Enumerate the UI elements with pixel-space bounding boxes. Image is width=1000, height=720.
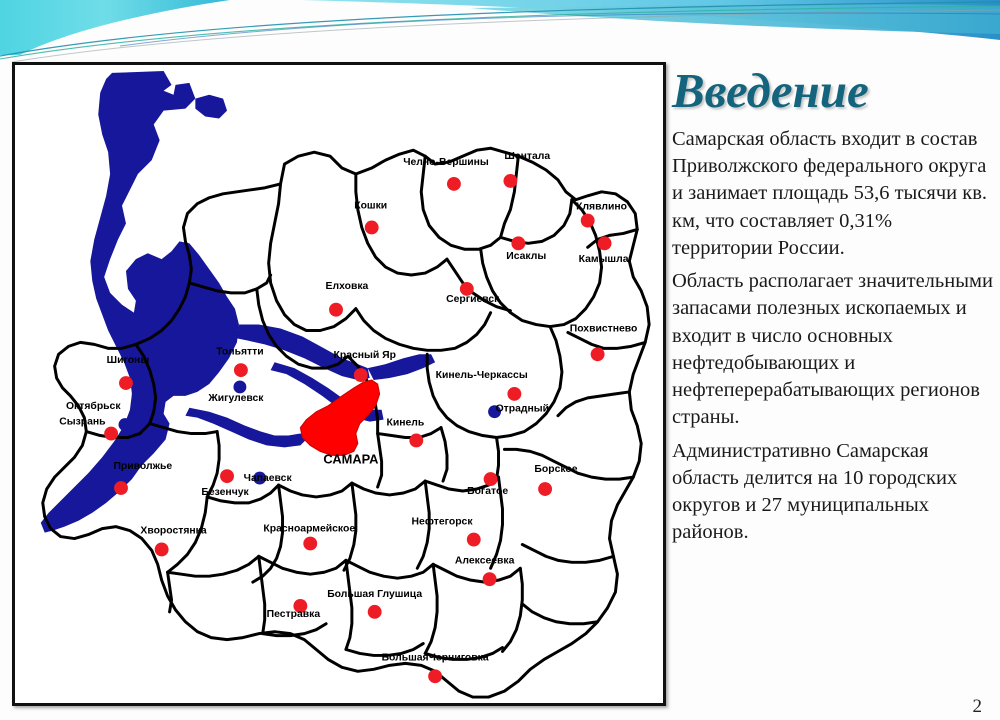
city-label-Челно-Вершины: Челно-Вершины	[403, 157, 489, 168]
city-label-Похвистнево: Похвистнево	[570, 323, 638, 334]
city-dot-Безенчук[interactable]	[220, 469, 234, 483]
city-label-Хворостянка: Хворостянка	[140, 526, 206, 537]
city-label-Красный Яр: Красный Яр	[334, 350, 397, 361]
city-label-Жигулевск: Жигулевск	[207, 393, 264, 404]
city-label-БольшаяЧерниговка: БольшаяЧерниговка	[382, 652, 489, 663]
city-dot-Красный Яр[interactable]	[354, 368, 368, 382]
city-dot-Шентала[interactable]	[503, 174, 517, 188]
city-label-Шентала: Шентала	[504, 151, 550, 162]
city-dot-Борское[interactable]	[538, 482, 552, 496]
city-label-Большая Глушица: Большая Глушица	[327, 589, 422, 600]
city-dot-Красноармейское[interactable]	[303, 537, 317, 551]
city-dot-Кинель-Черкассы[interactable]	[507, 387, 521, 401]
city-label-Камышла: Камышла	[579, 254, 629, 265]
city-dot-Кинель[interactable]	[409, 434, 423, 448]
city-label-Алексеевка: Алексеевка	[455, 555, 515, 566]
city-dot-Большая Глушица[interactable]	[368, 605, 382, 619]
city-dot-Приволжье[interactable]	[114, 481, 128, 495]
city-dot-Камышла[interactable]	[598, 236, 612, 250]
intro-paragraph-1: Самарская область входит в состав Привол…	[672, 126, 996, 262]
samara-region-map-panel[interactable]: Челно-ВершиныШенталаКошкиКлявлиноИсаклыК…	[12, 62, 666, 706]
city-label-Клявлино: Клявлино	[576, 202, 627, 213]
city-dot-Шигоны[interactable]	[119, 376, 133, 390]
city-dot-Елховка[interactable]	[329, 303, 343, 317]
city-dot-Челно-Вершины[interactable]	[447, 177, 461, 191]
city-dot-Алексеевка[interactable]	[483, 572, 497, 586]
city-label-Сергиевск: Сергиевск	[446, 294, 500, 305]
city-label-Кошки: Кошки	[354, 201, 387, 212]
city-dot-Сызрань[interactable]	[104, 427, 118, 441]
city-dot-Жигулевск[interactable]	[233, 381, 246, 394]
map-canvas[interactable]: Челно-ВершиныШенталаКошкиКлявлиноИсаклыК…	[15, 65, 663, 703]
city-label-Богатое: Богатое	[467, 486, 508, 497]
city-dot-Кошки[interactable]	[365, 221, 379, 235]
slide-banner-decoration	[0, 0, 1000, 62]
city-label-Приволжье: Приволжье	[113, 461, 172, 472]
page-number: 2	[973, 696, 983, 718]
city-label-Безенчук: Безенчук	[201, 487, 249, 498]
city-dot-Похвистнево[interactable]	[591, 347, 605, 361]
city-label-Нефтегорск: Нефтегорск	[412, 516, 474, 528]
city-dot-БольшаяЧерниговка[interactable]	[428, 669, 442, 683]
city-dot-Клявлино[interactable]	[581, 214, 595, 228]
city-label-Красноармейское: Красноармейское	[263, 524, 355, 535]
banner-swoosh-graphic	[0, 0, 1000, 62]
city-label-Чапаевск: Чапаевск	[244, 473, 293, 484]
city-dot-Нефтегорск[interactable]	[467, 533, 481, 547]
city-dot-Исаклы[interactable]	[511, 236, 525, 250]
slide-content-column: Введение Самарская область входит в сост…	[672, 62, 996, 712]
page-title: Введение	[672, 66, 996, 116]
city-label-Сызрань: Сызрань	[59, 417, 105, 428]
intro-paragraph-3: Административно Самарская область делитс…	[672, 438, 996, 547]
city-dot-Тольятти[interactable]	[234, 363, 248, 377]
intro-paragraph-2: Область располагает значительными запаса…	[672, 268, 996, 432]
city-dot-Богатое[interactable]	[484, 472, 498, 486]
city-label-Елховка: Елховка	[326, 281, 369, 292]
city-label-Исаклы: Исаклы	[506, 251, 546, 262]
city-dot-Октябрьск[interactable]	[119, 418, 132, 431]
city-label-Кинель: Кинель	[386, 418, 424, 429]
city-dot-Хворостянка[interactable]	[155, 543, 169, 557]
city-label-Тольятти: Тольятти	[216, 346, 263, 357]
city-label-Пестравка: Пестравка	[267, 609, 321, 620]
city-label-САМАРА: САМАРА	[323, 451, 378, 466]
city-label-Октябрьск: Октябрьск	[66, 400, 121, 412]
city-label-Борское: Борское	[534, 464, 577, 475]
city-label-Отрадный: Отрадный	[496, 404, 549, 415]
city-label-Кинель-Черкассы: Кинель-Черкассы	[436, 370, 528, 381]
city-label-Шигоны: Шигоны	[107, 355, 150, 366]
